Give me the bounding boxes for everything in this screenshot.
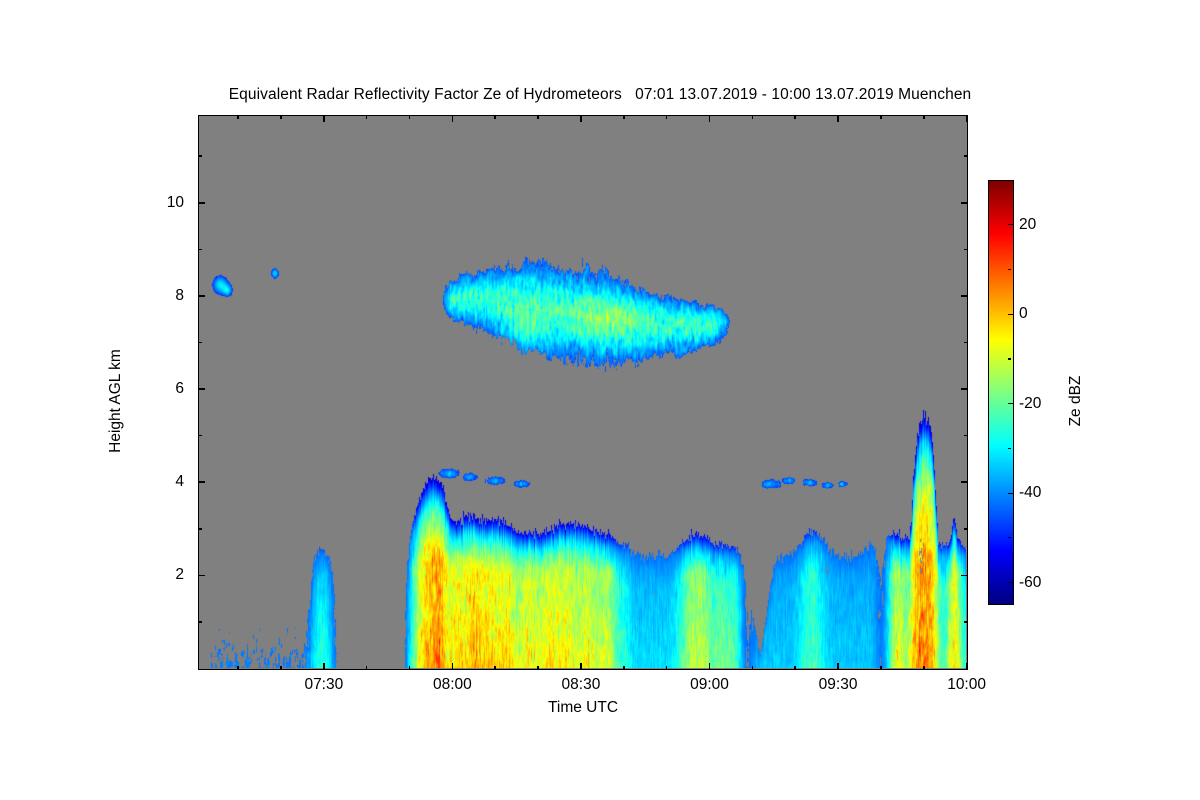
x-axis-minor-tick <box>752 115 754 119</box>
y-axis-tick <box>961 481 968 483</box>
y-axis-tick-label: 10 <box>140 194 184 212</box>
x-axis-tick <box>709 663 711 670</box>
colorbar-minor-tick <box>1008 269 1011 270</box>
y-axis-tick <box>961 388 968 390</box>
plot-area <box>198 115 968 670</box>
y-axis-tick-label: 8 <box>140 287 184 305</box>
radar-reflectivity-figure: Equivalent Radar Reflectivity Factor Ze … <box>0 0 1200 800</box>
y-axis-minor-tick <box>964 249 968 251</box>
x-axis-minor-tick <box>923 666 925 670</box>
x-axis-tick <box>452 115 454 122</box>
colorbar-tick <box>1008 403 1013 404</box>
x-axis-tick-label: 10:00 <box>947 676 986 694</box>
y-axis-minor-tick <box>964 342 968 344</box>
colorbar-tick <box>1008 224 1013 225</box>
x-axis-minor-tick <box>366 115 368 119</box>
colorbar-tick <box>1008 314 1013 315</box>
x-axis-minor-tick <box>237 115 239 119</box>
x-axis-tick <box>580 115 582 122</box>
x-axis-tick <box>837 115 839 122</box>
x-axis-minor-tick <box>794 666 796 670</box>
colorbar-tick-label: -60 <box>1019 574 1041 592</box>
x-axis-tick <box>966 115 968 122</box>
x-axis-minor-tick <box>280 115 282 119</box>
colorbar-tick-label: 0 <box>1019 305 1028 323</box>
page-title: Equivalent Radar Reflectivity Factor Ze … <box>0 86 1200 104</box>
x-axis-tick <box>452 663 454 670</box>
y-axis-tick <box>198 295 205 297</box>
x-axis-tick-label: 07:30 <box>304 676 343 694</box>
colorbar-tick <box>1008 582 1013 583</box>
colorbar <box>988 180 1014 605</box>
x-axis-minor-tick <box>752 666 754 670</box>
y-axis-tick <box>198 388 205 390</box>
colorbar-tick <box>1008 493 1013 494</box>
x-axis-minor-tick <box>666 115 668 119</box>
colorbar-minor-tick <box>1008 448 1011 449</box>
y-axis-minor-tick <box>198 342 202 344</box>
y-axis-minor-tick <box>964 621 968 623</box>
x-axis-tick <box>966 663 968 670</box>
y-axis-tick <box>961 295 968 297</box>
x-axis-tick <box>323 115 325 122</box>
y-axis-minor-tick <box>198 621 202 623</box>
x-axis-minor-tick <box>666 666 668 670</box>
y-axis-tick <box>198 202 205 204</box>
colorbar-tick-label: -40 <box>1019 484 1041 502</box>
y-axis-tick-label: 2 <box>140 566 184 584</box>
y-axis-minor-tick <box>964 435 968 437</box>
x-axis-tick-label: 08:00 <box>433 676 472 694</box>
y-axis-tick <box>961 202 968 204</box>
x-axis-minor-tick <box>537 115 539 119</box>
x-axis-minor-tick <box>366 666 368 670</box>
x-axis-tick-label: 09:00 <box>690 676 729 694</box>
y-axis-tick <box>961 575 968 577</box>
x-axis-tick <box>709 115 711 122</box>
x-axis-minor-tick <box>409 666 411 670</box>
y-axis-minor-tick <box>198 528 202 530</box>
x-axis-minor-tick <box>494 115 496 119</box>
y-axis-tick-label: 6 <box>140 380 184 398</box>
colorbar-minor-tick <box>1008 358 1011 359</box>
x-axis-minor-tick <box>880 666 882 670</box>
y-axis-minor-tick <box>964 528 968 530</box>
colorbar-minor-tick <box>1008 537 1011 538</box>
x-axis-minor-tick <box>409 115 411 119</box>
x-axis-tick <box>323 663 325 670</box>
colorbar-tick-label: -20 <box>1019 395 1041 413</box>
y-axis-tick <box>198 481 205 483</box>
colorbar-tick-label: 20 <box>1019 216 1036 234</box>
x-axis-minor-tick <box>494 666 496 670</box>
y-axis-tick <box>198 575 205 577</box>
x-axis-tick <box>837 663 839 670</box>
reflectivity-heatmap <box>199 116 966 668</box>
y-axis-minor-tick <box>198 155 202 157</box>
x-axis-tick-label: 08:30 <box>562 676 601 694</box>
y-axis-title: Height AGL km <box>107 281 125 521</box>
x-axis-minor-tick <box>923 115 925 119</box>
x-axis-minor-tick <box>623 115 625 119</box>
x-axis-minor-tick <box>237 666 239 670</box>
y-axis-minor-tick <box>198 435 202 437</box>
x-axis-minor-tick <box>537 666 539 670</box>
x-axis-minor-tick <box>280 666 282 670</box>
colorbar-title: Ze dBZ <box>1067 301 1085 501</box>
x-axis-tick-label: 09:30 <box>819 676 858 694</box>
x-axis-title: Time UTC <box>198 699 968 717</box>
x-axis-tick <box>580 663 582 670</box>
y-axis-minor-tick <box>964 155 968 157</box>
y-axis-tick-label: 4 <box>140 473 184 491</box>
x-axis-minor-tick <box>880 115 882 119</box>
colorbar-gradient <box>988 180 1014 605</box>
y-axis-minor-tick <box>198 249 202 251</box>
x-axis-minor-tick <box>794 115 796 119</box>
x-axis-minor-tick <box>623 666 625 670</box>
